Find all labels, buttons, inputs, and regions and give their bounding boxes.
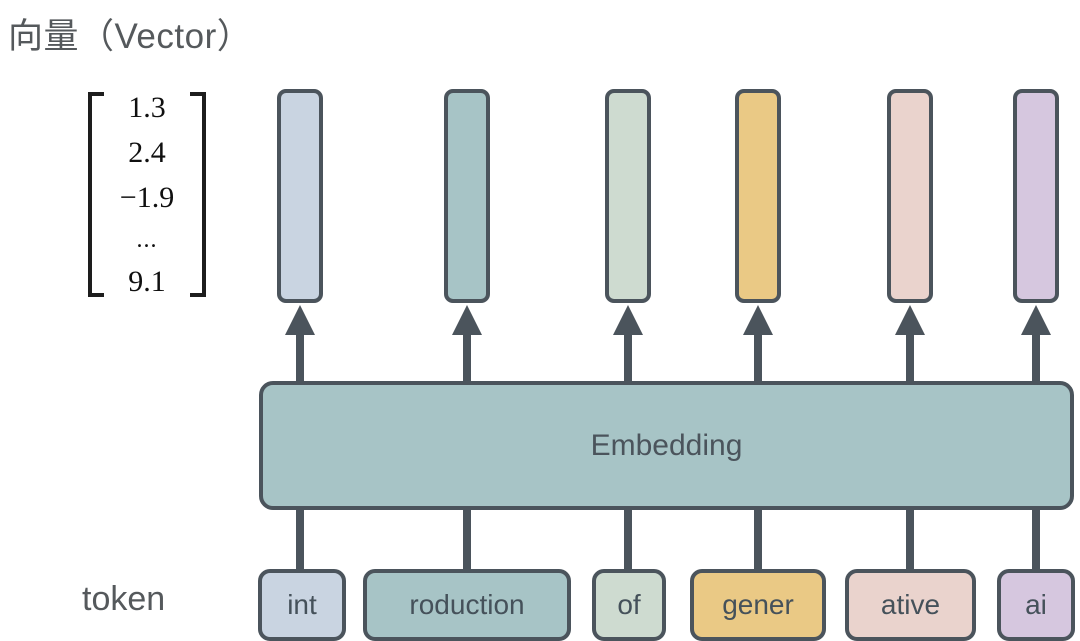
vector-bar-of: [605, 89, 651, 303]
embedding-label: Embedding: [591, 429, 743, 463]
token-text: int: [287, 589, 317, 621]
token-box-ative[interactable]: ative: [845, 569, 976, 641]
token-text: roduction: [409, 589, 524, 621]
arrow-up-ai: [1019, 303, 1053, 383]
page-title: 向量（Vector）: [8, 8, 252, 59]
vector-value-0: 1.3: [128, 93, 166, 123]
token-box-int[interactable]: int: [258, 569, 346, 641]
vector-value-1: 2.4: [128, 138, 166, 168]
vector-value-ellipsis: ...: [137, 228, 158, 252]
token-box-gener[interactable]: gener: [690, 569, 826, 641]
vector-bar-ai: [1013, 89, 1059, 303]
connector-of: [624, 508, 632, 572]
arrow-up-of: [611, 303, 645, 383]
vector-bar-ative: [887, 89, 933, 303]
token-text: ai: [1025, 589, 1047, 621]
token-text: gener: [722, 589, 794, 621]
vector-bar-roduction: [444, 89, 490, 303]
vector-values: 1.3 2.4 −1.9 ... 9.1: [106, 92, 188, 297]
token-box-roduction[interactable]: roduction: [363, 569, 571, 641]
vector-value-4: 9.1: [128, 267, 166, 297]
arrow-up-int: [283, 303, 317, 383]
vector-bar-gener: [735, 89, 781, 303]
token-text: ative: [881, 589, 940, 621]
token-box-of[interactable]: of: [592, 569, 666, 641]
vector-notation: 1.3 2.4 −1.9 ... 9.1: [88, 92, 206, 297]
connector-gener: [754, 508, 762, 572]
arrow-up-roduction: [450, 303, 484, 383]
embedding-block[interactable]: Embedding: [259, 381, 1074, 510]
connector-roduction: [463, 508, 471, 572]
connector-int: [296, 508, 304, 572]
token-row-label: token: [82, 580, 165, 619]
vector-value-2: −1.9: [120, 183, 174, 213]
connector-ative: [906, 508, 914, 572]
arrow-up-gener: [741, 303, 775, 383]
vector-open-bracket: [88, 92, 106, 297]
vector-close-bracket: [188, 92, 206, 297]
arrow-up-ative: [893, 303, 927, 383]
token-box-ai[interactable]: ai: [997, 569, 1075, 641]
token-text: of: [617, 589, 640, 621]
connector-ai: [1032, 508, 1040, 572]
vector-bar-int: [277, 89, 323, 303]
diagram-canvas: 向量（Vector） 1.3 2.4 −1.9 ... 9.1 Embeddin…: [0, 0, 1080, 641]
